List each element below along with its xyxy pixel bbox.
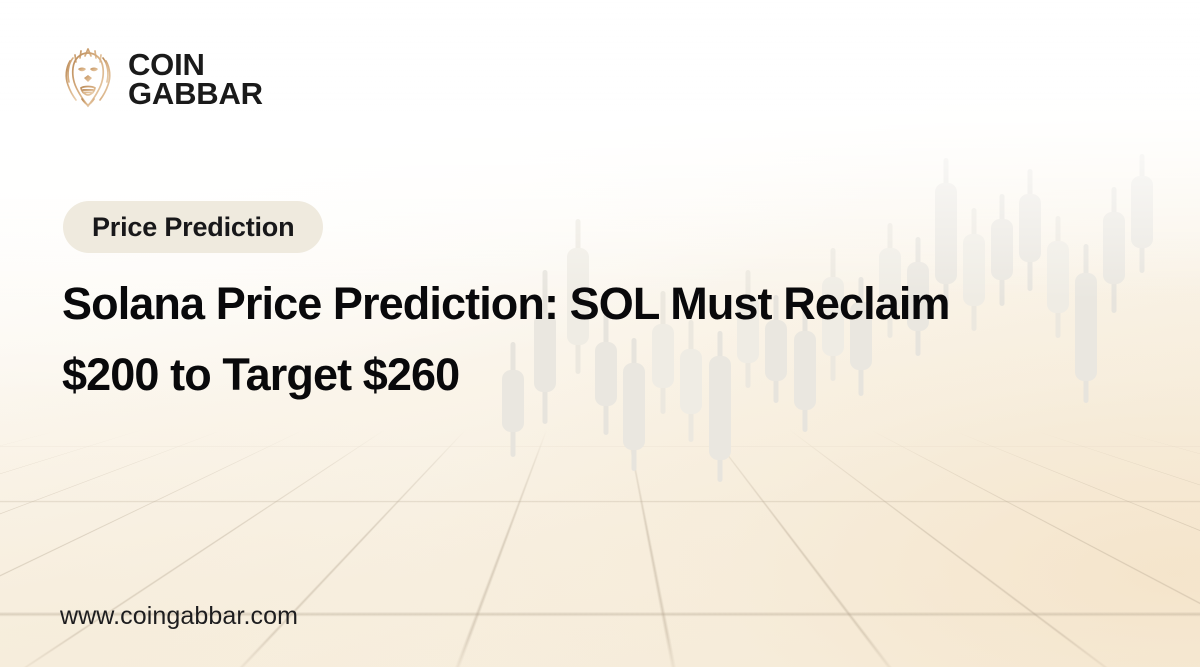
page-title: Solana Price Prediction: SOL Must Reclai… <box>62 268 1092 410</box>
lion-head-icon <box>60 44 116 114</box>
category-badge: Price Prediction <box>63 201 323 253</box>
headline-line-1: Solana Price Prediction: SOL Must Reclai… <box>62 268 1092 339</box>
brand-name-line2: GABBAR <box>128 79 263 108</box>
brand-wordmark: COIN GABBAR <box>128 50 263 108</box>
brand-name-line1: COIN <box>128 50 263 79</box>
social-banner: COIN GABBAR Price Prediction Solana Pric… <box>0 0 1200 667</box>
headline-line-2: $200 to Target $260 <box>62 339 1092 410</box>
category-badge-label: Price Prediction <box>92 212 294 243</box>
brand-logo[interactable]: COIN GABBAR <box>60 44 263 114</box>
site-url[interactable]: www.coingabbar.com <box>60 602 298 631</box>
